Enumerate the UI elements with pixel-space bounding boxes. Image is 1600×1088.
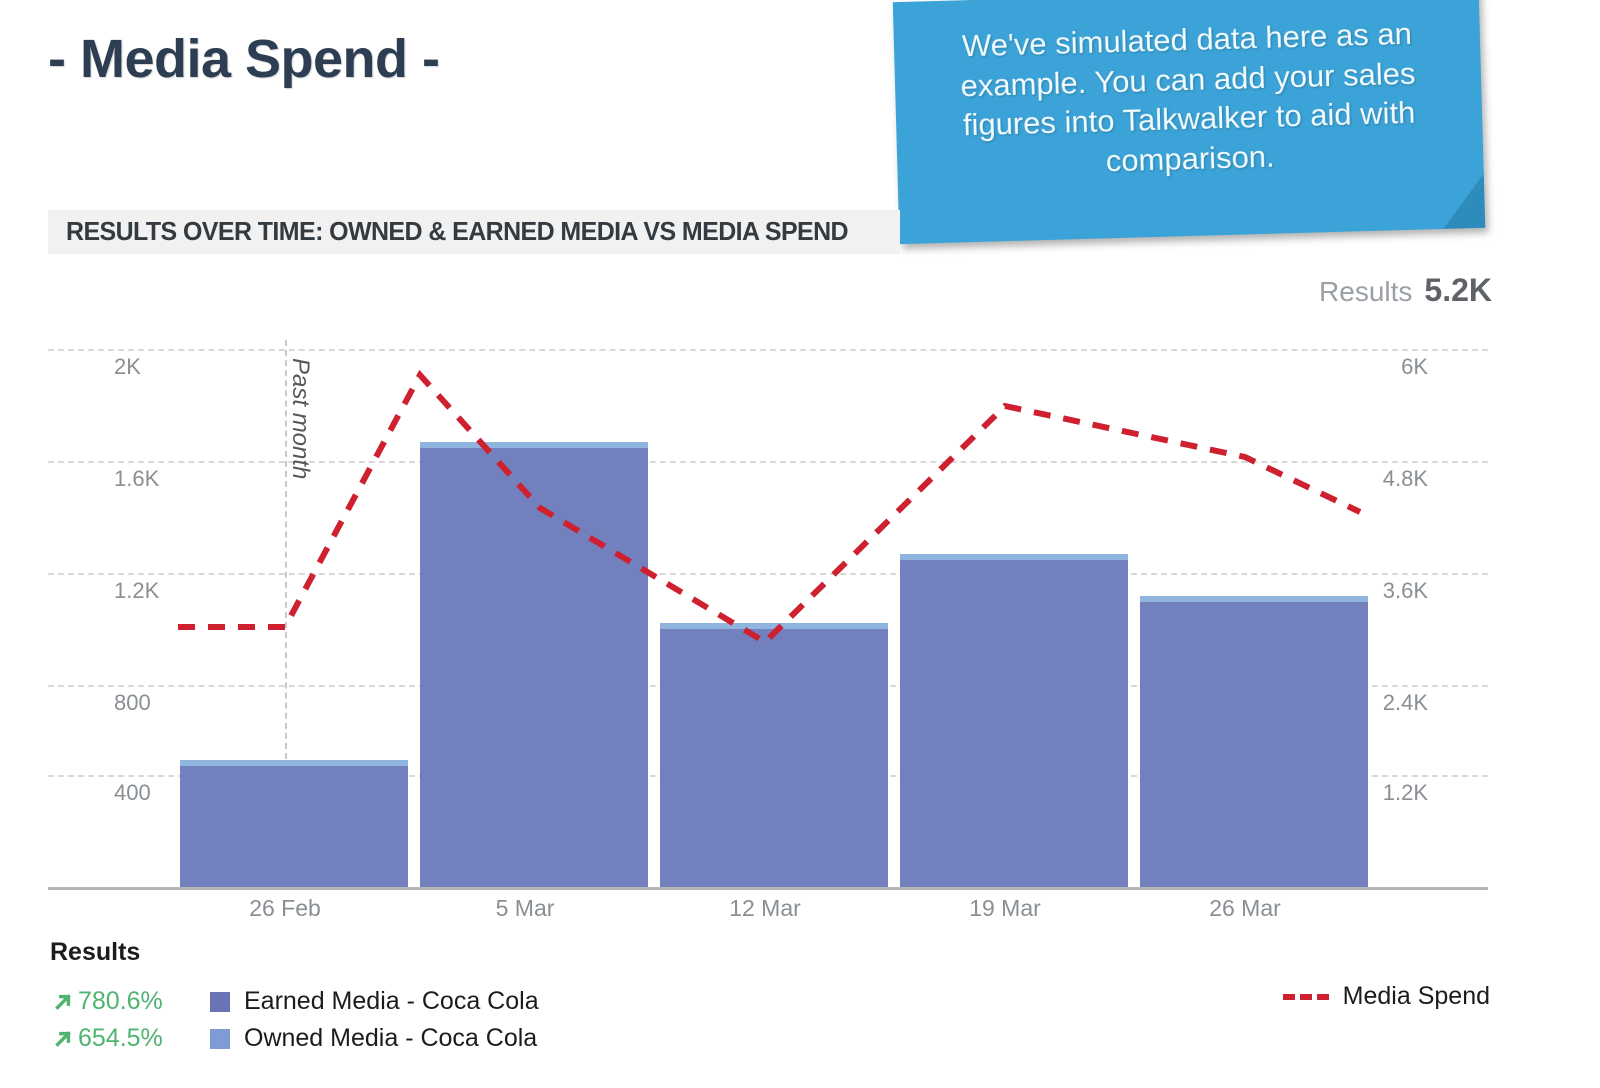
legend-delta-owned: 654.5% bbox=[50, 1024, 210, 1053]
up-arrow-icon bbox=[50, 989, 76, 1015]
bar-cap-owned-12-mar bbox=[660, 623, 888, 629]
x-axis: 26 Feb 5 Mar 12 Mar 19 Mar 26 Mar bbox=[48, 895, 1488, 929]
results-summary-label: Results bbox=[1319, 276, 1412, 308]
legend-delta-earned-value: 780.6% bbox=[78, 987, 163, 1016]
legend-label-owned: Owned Media - Coca Cola bbox=[244, 1024, 537, 1053]
legend-swatch-earned bbox=[210, 992, 230, 1012]
x-axis-tick-26-mar: 26 Mar bbox=[1209, 895, 1281, 922]
results-summary-value: 5.2K bbox=[1424, 272, 1492, 309]
legend-item-media-spend[interactable]: Media Spend bbox=[1283, 982, 1490, 1011]
bar-cap-owned-19-mar bbox=[900, 554, 1128, 560]
bar-cap-owned-26-feb bbox=[180, 760, 408, 766]
bar-26-mar[interactable] bbox=[1140, 596, 1368, 890]
x-axis-tick-12-mar: 12 Mar bbox=[729, 895, 801, 922]
x-axis-tick-26-feb: 26 Feb bbox=[249, 895, 321, 922]
legend-label-earned: Earned Media - Coca Cola bbox=[244, 987, 539, 1016]
results-summary: Results 5.2K bbox=[1319, 272, 1492, 309]
legend-label-media-spend: Media Spend bbox=[1343, 982, 1490, 1011]
legend: 780.6% Earned Media - Coca Cola 654.5% O… bbox=[50, 983, 539, 1057]
legend-swatch-media-spend bbox=[1283, 994, 1329, 1000]
legend-delta-owned-value: 654.5% bbox=[78, 1024, 163, 1053]
page-title: - Media Spend - bbox=[48, 28, 440, 90]
chart-title: RESULTS OVER TIME: OWNED & EARNED MEDIA … bbox=[66, 216, 848, 247]
legend-title: Results bbox=[50, 938, 140, 967]
legend-item-earned-media[interactable]: 780.6% Earned Media - Coca Cola bbox=[50, 983, 539, 1020]
legend-delta-earned: 780.6% bbox=[50, 987, 210, 1016]
bar-series bbox=[48, 330, 1488, 890]
bar-cap-owned-26-mar bbox=[1140, 596, 1368, 602]
chart-plot-area: 2K 1.6K 1.2K 800 400 6K 4.8K 3.6K 2.4K 1… bbox=[48, 330, 1488, 890]
up-arrow-icon bbox=[50, 1026, 76, 1052]
bar-26-feb[interactable] bbox=[180, 760, 408, 890]
x-axis-baseline bbox=[48, 887, 1488, 890]
x-axis-tick-19-mar: 19 Mar bbox=[969, 895, 1041, 922]
callout-banner: We've simulated data here as an example.… bbox=[893, 0, 1486, 244]
bar-12-mar[interactable] bbox=[660, 623, 888, 890]
legend-swatch-owned bbox=[210, 1029, 230, 1049]
bar-19-mar[interactable] bbox=[900, 554, 1128, 890]
bar-cap-owned-5-mar bbox=[420, 442, 648, 448]
bar-5-mar[interactable] bbox=[420, 442, 648, 890]
legend-item-owned-media[interactable]: 654.5% Owned Media - Coca Cola bbox=[50, 1020, 539, 1057]
x-axis-tick-5-mar: 5 Mar bbox=[496, 895, 555, 922]
callout-text: We've simulated data here as an example.… bbox=[917, 13, 1459, 187]
